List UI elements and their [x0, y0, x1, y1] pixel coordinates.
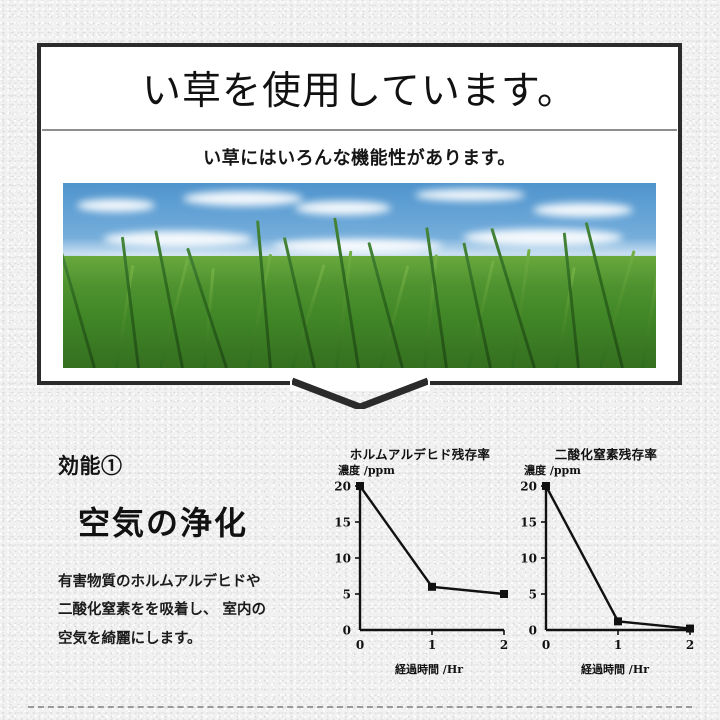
svg-text:2: 2: [686, 638, 694, 652]
svg-text:1: 1: [428, 638, 436, 652]
benefit-eyebrow: 効能①: [58, 450, 316, 480]
page-subtitle: い草にはいろんな機能性があります。: [203, 144, 516, 170]
chart-plot-area: 05101520012: [330, 478, 510, 660]
cloud-shape: [77, 199, 155, 212]
svg-text:15: 15: [334, 516, 351, 530]
chart-svg: 05101520012: [516, 478, 696, 656]
hero-panel: い草を使用しています。 い草にはいろんな機能性があります。: [37, 43, 682, 385]
svg-text:20: 20: [520, 480, 537, 494]
svg-text:10: 10: [520, 552, 537, 566]
svg-text:5: 5: [529, 588, 537, 602]
benefit-body: 有害物質のホルムアルデヒドや 二酸化窒素をを吸着し、 室内の 空気を綺麗にします…: [58, 568, 316, 653]
hero-title-row: い草を使用しています。: [41, 47, 678, 129]
svg-text:15: 15: [520, 516, 537, 530]
chart-x-axis-label: 経過時間 /Hr: [516, 661, 696, 677]
cloud-shape: [183, 191, 303, 206]
benefit-body-line: 二酸化窒素をを吸着し、 室内の: [58, 596, 316, 624]
svg-text:10: 10: [334, 552, 351, 566]
chart-nitrogen-dioxide: 二酸化窒素残存率 濃度 /ppm 05101520012 経過時間 /Hr: [516, 444, 696, 672]
cloud-shape: [415, 189, 525, 201]
chart-y-axis-label: 濃度 /ppm: [338, 462, 510, 478]
chart-y-axis-label: 濃度 /ppm: [524, 462, 696, 478]
benefit-body-line: 空気を綺麗にします。: [58, 625, 316, 653]
chart-title: 二酸化窒素残存率: [516, 444, 696, 462]
chart-plot-area: 05101520012: [516, 478, 696, 660]
svg-text:0: 0: [356, 638, 364, 652]
down-chevron-icon: [292, 375, 428, 409]
chart-x-axis-label: 経過時間 /Hr: [330, 661, 510, 677]
benefit-text-block: 効能① 空気の浄化 有害物質のホルムアルデヒドや 二酸化窒素をを吸着し、 室内の…: [58, 450, 316, 653]
svg-text:2: 2: [500, 638, 508, 652]
cloud-shape: [533, 203, 633, 217]
cloud-shape: [295, 201, 391, 215]
svg-text:1: 1: [614, 638, 622, 652]
svg-text:20: 20: [334, 480, 351, 494]
hero-subtitle-row: い草にはいろんな機能性があります。: [41, 131, 678, 183]
igusa-field-photo: [63, 183, 656, 368]
svg-text:0: 0: [343, 624, 351, 638]
chart-title: ホルムアルデヒド残存率: [330, 444, 510, 462]
svg-text:5: 5: [343, 588, 351, 602]
page-title: い草を使用しています。: [142, 60, 577, 116]
svg-text:0: 0: [542, 638, 550, 652]
svg-text:0: 0: [529, 624, 537, 638]
benefit-body-line: 有害物質のホルムアルデヒドや: [58, 568, 316, 596]
chart-formaldehyde: ホルムアルデヒド残存率 濃度 /ppm 05101520012 経過時間 /Hr: [330, 444, 510, 672]
chart-svg: 05101520012: [330, 478, 510, 656]
benefit-heading: 空気の浄化: [78, 498, 316, 544]
bottom-dashed-divider: [28, 706, 692, 708]
benefit-section: 効能① 空気の浄化 有害物質のホルムアルデヒドや 二酸化窒素をを吸着し、 室内の…: [0, 430, 720, 680]
